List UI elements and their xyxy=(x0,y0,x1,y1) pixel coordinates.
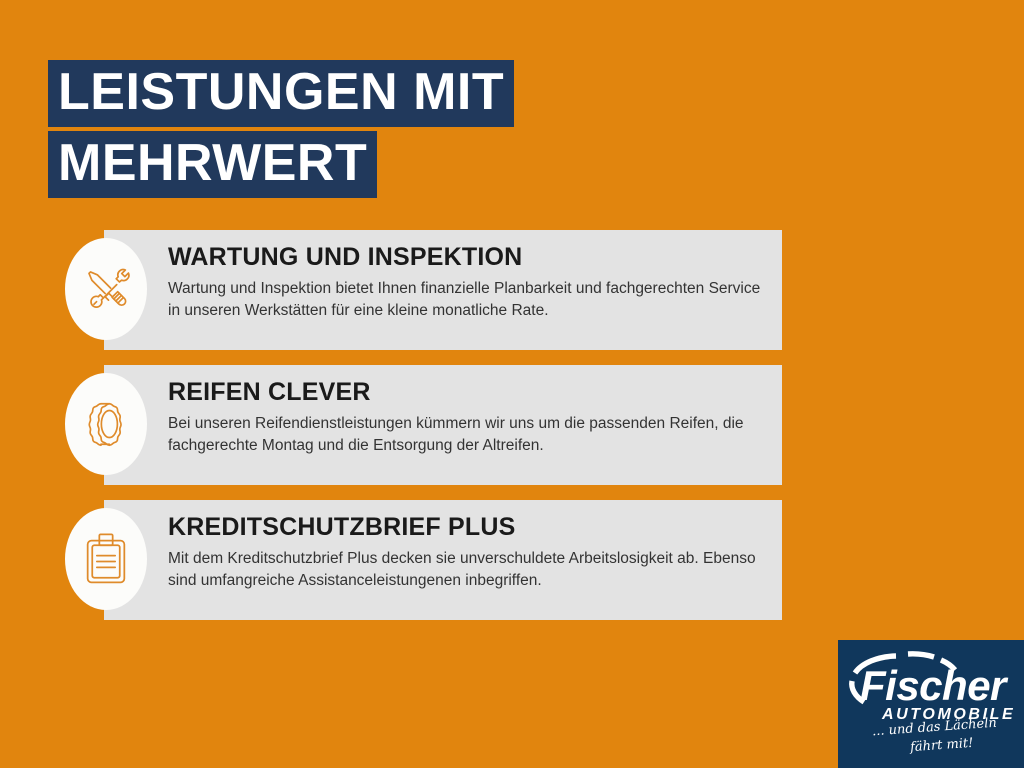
service-card-wartung-und-inspektion[interactable]: WARTUNG UND INSPEKTION Wartung und Inspe… xyxy=(104,230,782,350)
service-card-title: WARTUNG UND INSPEKTION xyxy=(168,244,768,272)
service-icon-badge xyxy=(65,508,147,610)
page-title: LEISTUNGEN MIT MEHRWERT xyxy=(48,60,608,202)
company-logo[interactable]: Fischer AUTOMOBILE ... und das Lächeln f… xyxy=(838,640,1024,768)
service-card-content: REIFEN CLEVER Bei unseren Reifendienstle… xyxy=(168,379,768,457)
logo-tagline-line-1: ... und das Lächeln xyxy=(872,716,998,740)
service-card-description: Mit dem Kreditschutzbrief Plus decken si… xyxy=(168,548,768,592)
service-icon-badge xyxy=(65,373,147,475)
service-card-description: Bei unseren Reifendienstleistungen kümme… xyxy=(168,413,768,457)
logo-tagline-line-2: fährt mit! xyxy=(910,736,974,755)
logo-wordmark-text: Fischer xyxy=(860,662,1009,709)
service-card-kreditschutzbrief-plus[interactable]: KREDITSCHUTZBRIEF PLUS Mit dem Kreditsch… xyxy=(104,500,782,620)
clipboard-icon xyxy=(81,532,131,586)
tire-icon xyxy=(79,397,133,451)
service-card-content: KREDITSCHUTZBRIEF PLUS Mit dem Kreditsch… xyxy=(168,514,768,592)
service-card-title: REIFEN CLEVER xyxy=(168,379,768,407)
service-card-content: WARTUNG UND INSPEKTION Wartung und Inspe… xyxy=(168,244,768,322)
page-title-line-2: MEHRWERT xyxy=(48,131,377,198)
service-card-description: Wartung und Inspektion bietet Ihnen fina… xyxy=(168,278,768,322)
service-icon-badge xyxy=(65,238,147,340)
wrench-screwdriver-icon xyxy=(80,263,132,315)
service-card-title: KREDITSCHUTZBRIEF PLUS xyxy=(168,514,768,542)
service-card-reifen-clever[interactable]: REIFEN CLEVER Bei unseren Reifendienstle… xyxy=(104,365,782,485)
slide-canvas: LEISTUNGEN MIT MEHRWERT WARTUNG UND INSP… xyxy=(0,0,1024,768)
page-title-line-1: LEISTUNGEN MIT xyxy=(48,60,514,127)
fischer-automobile-wordmark: Fischer AUTOMOBILE xyxy=(838,640,1024,726)
logo-tagline: ... und das Lächeln fährt mit! xyxy=(838,720,1024,768)
